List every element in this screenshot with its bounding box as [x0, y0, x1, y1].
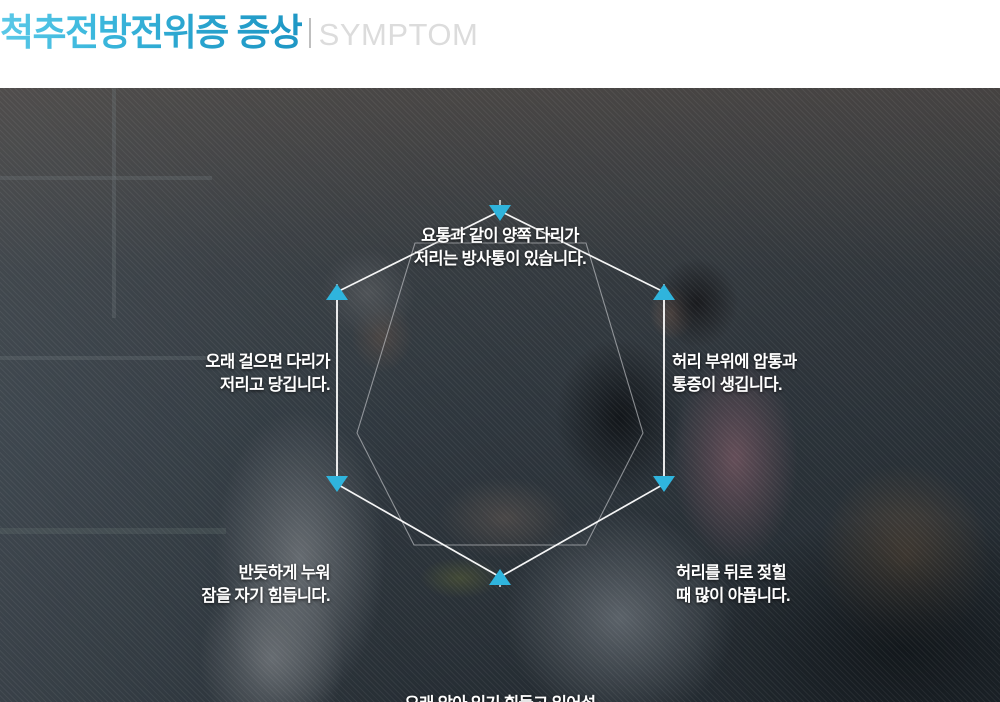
callout-right-lower-line1: 허리를 뒤로 젖힐 — [676, 562, 916, 585]
callout-right-upper-line1: 허리 부위에 압통과 — [672, 351, 912, 374]
page-header: 척추전방전위증 증상 SYMPTOM — [0, 0, 1000, 88]
callout-left-upper-line2: 저리고 당깁니다. — [90, 374, 330, 397]
callout-left-lower-line1: 반듯하게 누워 — [90, 562, 330, 585]
callout-right-lower-line2: 때 많이 아픕니다. — [676, 585, 916, 608]
title-divider — [309, 18, 311, 48]
symptom-infographic-page: 척추전방전위증 증상 SYMPTOM — [0, 0, 1000, 702]
page-title-korean: 척추전방전위증 증상 — [0, 2, 302, 56]
callout-top: 요통과 같이 양쪽 다리가 저리는 방사통이 있습니다. — [330, 225, 670, 272]
page-title: 척추전방전위증 증상 SYMPTOM — [0, 2, 478, 56]
callout-top-line2: 저리는 방사통이 있습니다. — [330, 248, 670, 271]
callout-left-upper-line1: 오래 걸으면 다리가 — [90, 351, 330, 374]
callout-bottom: 오래 앉아 있기 힘들고 일어설 때 통증이 더 심해집니다. — [330, 693, 670, 702]
callout-bottom-line1: 오래 앉아 있기 힘들고 일어설 — [330, 693, 670, 702]
callout-right-upper-line2: 통증이 생깁니다. — [672, 374, 912, 397]
callout-right-lower: 허리를 뒤로 젖힐 때 많이 아픕니다. — [676, 562, 916, 609]
callout-top-line1: 요통과 같이 양쪽 다리가 — [330, 225, 670, 248]
callout-left-lower-line2: 잠을 자기 힘듭니다. — [90, 585, 330, 608]
photo-stage: 요통과 같이 양쪽 다리가 저리는 방사통이 있습니다. 오래 걸으면 다리가 … — [0, 88, 1000, 702]
callout-left-upper: 오래 걸으면 다리가 저리고 당깁니다. — [90, 351, 330, 398]
callout-left-lower: 반듯하게 누워 잠을 자기 힘듭니다. — [90, 562, 330, 609]
page-title-english: SYMPTOM — [319, 17, 479, 53]
callout-right-upper: 허리 부위에 압통과 통증이 생깁니다. — [672, 351, 912, 398]
